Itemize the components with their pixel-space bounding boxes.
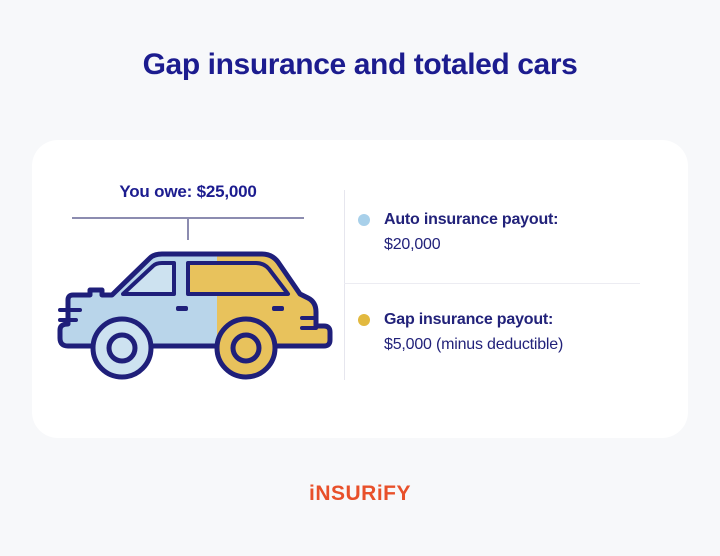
legend-item-gap-insurance: Gap insurance payout: $5,000 (minus dedu… [384,308,684,357]
legend-title-gap: Gap insurance payout: [384,308,684,332]
legend-value-gap: $5,000 (minus deductible) [384,332,684,357]
legend-item-auto-insurance: Auto insurance payout: $20,000 [384,208,684,257]
content-card: You owe: $25,000 [32,140,688,438]
payout-legend: Auto insurance payout: $20,000 Gap insur… [344,140,688,438]
owed-bracket-tick [187,218,189,240]
owed-amount-panel: You owe: $25,000 [40,140,352,438]
car-illustration [50,240,340,400]
page-title: Gap insurance and totaled cars [0,48,720,82]
insurify-logo: iNSURiFY [0,482,720,506]
legend-value-auto: $20,000 [384,232,684,257]
legend-bullet-icon-gap [358,314,370,326]
legend-title-auto: Auto insurance payout: [384,208,684,232]
infographic-root: Gap insurance and totaled cars You owe: … [0,0,720,556]
owed-amount-label: You owe: $25,000 [40,182,336,202]
legend-bullet-icon-auto [358,214,370,226]
